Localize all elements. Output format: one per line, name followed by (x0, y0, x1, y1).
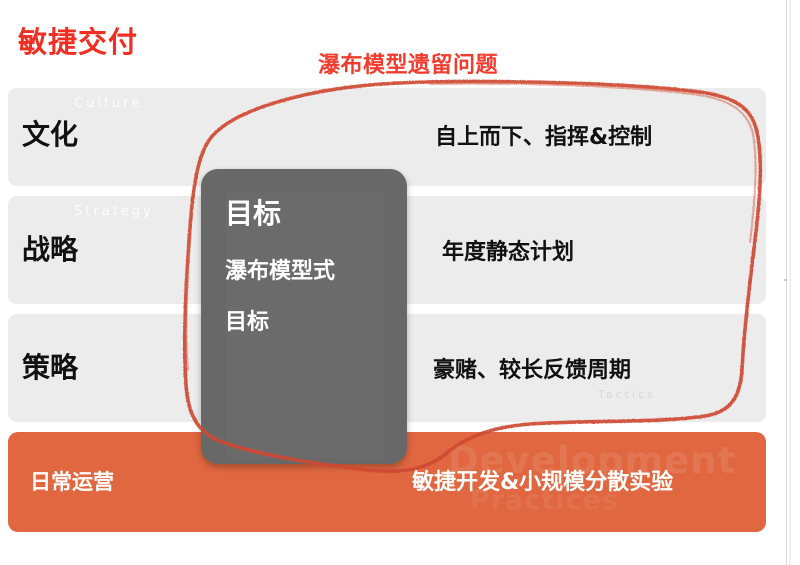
row-label-strategy: 战略 (22, 236, 78, 264)
row-watermark-tactics: Tactics (598, 388, 656, 401)
row-value-operations: 敏捷开发&小规模分散实验 (412, 472, 673, 494)
row-watermark-culture: Culture (74, 96, 142, 111)
goal-card-line-2: 目标 (225, 312, 269, 334)
goal-card[interactable]: 目标 瀑布模型式 目标 (201, 169, 407, 464)
annotation-label: 瀑布模型遗留问题 (318, 55, 498, 77)
page-right-gutter (789, 0, 791, 565)
goal-card-line-1: 瀑布模型式 (225, 261, 335, 283)
page-right-marker (784, 279, 787, 281)
row-label-tactics: 策略 (22, 354, 78, 382)
row-value-tactics: 豪赌、较长反馈周期 (433, 360, 631, 382)
row-label-operations: 日常运营 (30, 472, 114, 493)
row-value-culture: 自上而下、指挥&控制 (435, 127, 652, 149)
row-value-strategy: 年度静态计划 (442, 242, 574, 264)
row-watermark-strategy: Strategy (74, 204, 154, 219)
goal-card-heading: 目标 (225, 200, 281, 228)
slide-canvas: 敏捷交付 瀑布模型遗留问题 Culture 文化 自上而下、指挥&控制 Stra… (0, 0, 800, 565)
row-label-culture: 文化 (22, 121, 78, 149)
page-title: 敏捷交付 (18, 28, 138, 57)
page-right-border (786, 0, 787, 565)
